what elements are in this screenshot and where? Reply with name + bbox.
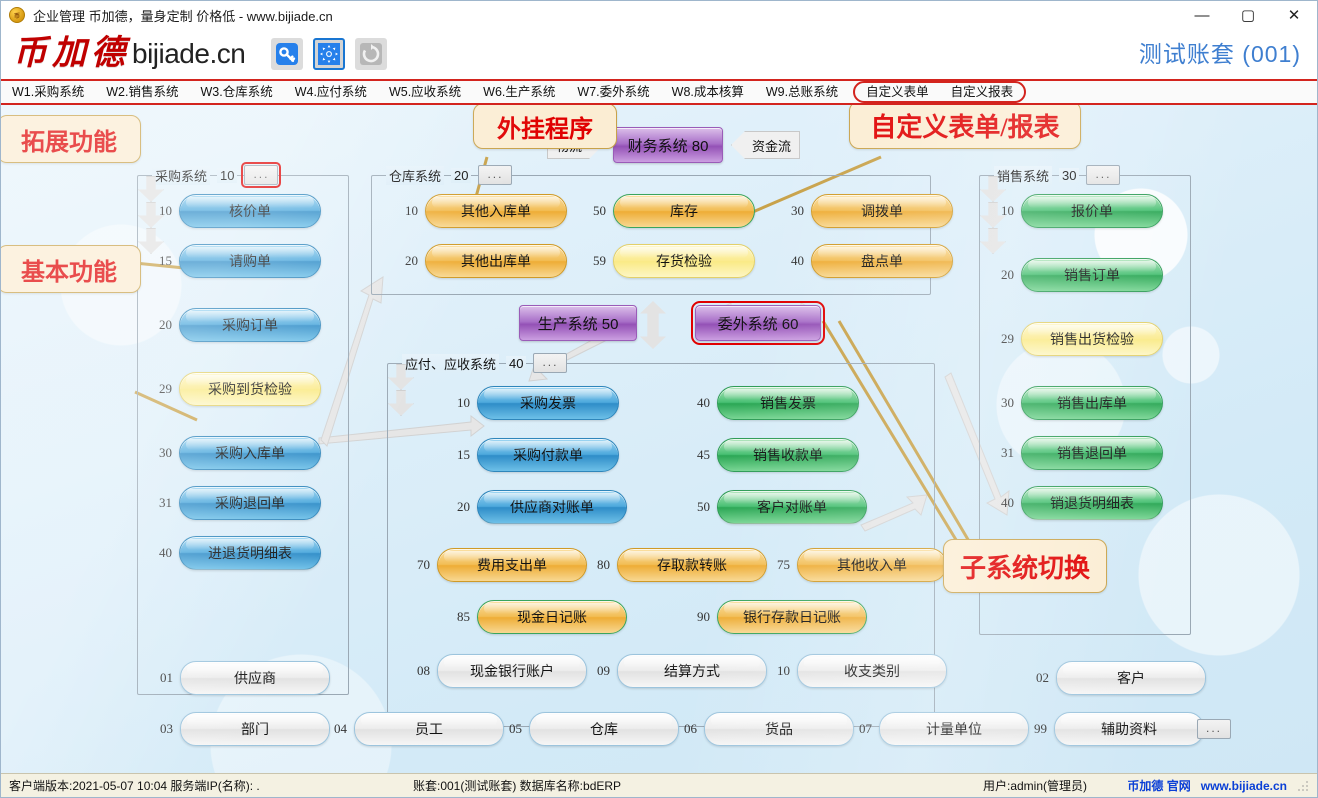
logo-chinese: 币加德 (13, 37, 130, 71)
doc-button-qitachukudan[interactable]: 其他出库单 (425, 244, 567, 278)
production-system-chip[interactable]: 生产系统 50 (519, 305, 637, 341)
menu-bar: W1.采购系统 W2.销售系统 W3.仓库系统 W4.应付系统 W5.应收系统 … (1, 79, 1317, 105)
doc-num: 20 (146, 317, 172, 333)
title-bar: 币 企业管理 币加德，量身定制 价格低 - www.bijiade.cn — ▢… (1, 1, 1317, 29)
payables-more-button[interactable]: ... (533, 353, 567, 373)
doc-row-purchase-15: 15 请购单 (146, 244, 321, 278)
application-window: 币 企业管理 币加德，量身定制 价格低 - www.bijiade.cn — ▢… (0, 0, 1318, 798)
doc-num: 20 (988, 267, 1014, 283)
doc-button-xiaoshoufapiao[interactable]: 销售发票 (717, 386, 859, 420)
doc-button-cunqukuanzhuanzhang[interactable]: 存取款转账 (617, 548, 767, 582)
doc-num: 80 (584, 557, 610, 573)
doc-row-sales-10: 10 报价单 (988, 194, 1163, 228)
doc-row-purchase-10: 10 核价单 (146, 194, 321, 228)
brand-bar: 币加德 bijiade.cn (1, 29, 1317, 79)
doc-button-yinhangcunkuanrijizhang[interactable]: 银行存款日记账 (717, 600, 867, 634)
doc-num: 04 (321, 721, 347, 737)
menu-item-w6[interactable]: W6.生产系统 (472, 80, 566, 104)
doc-num: 29 (988, 331, 1014, 347)
doc-button-xiaoshoudingdan[interactable]: 销售订单 (1021, 258, 1163, 292)
doc-num: 70 (404, 557, 430, 573)
group-purchase-code: 10 (217, 168, 237, 183)
doc-row-ap-20: 20 供应商对账单 (444, 490, 627, 524)
doc-num: 99 (1021, 721, 1047, 737)
doc-button-caigoutuihuidan[interactable]: 采购退回单 (179, 486, 321, 520)
doc-row-purchase-29: 29 采购到货检验 (146, 372, 321, 406)
arrow-down-icon (980, 228, 1006, 254)
doc-row-warehouse-59: 59 存货检验 (580, 244, 755, 278)
doc-num: 30 (778, 203, 804, 219)
doc-num: 50 (684, 499, 710, 515)
minimize-button[interactable]: — (1179, 1, 1225, 29)
doc-row-warehouse-10: 10 其他入库单 (392, 194, 567, 228)
doc-button-feiyongzhichudan[interactable]: 费用支出单 (437, 548, 587, 582)
doc-row-journal-90: 90 银行存款日记账 (684, 600, 867, 634)
doc-num: 15 (444, 447, 470, 463)
doc-num: 20 (444, 499, 470, 515)
doc-num: 30 (988, 395, 1014, 411)
finance-system-chip[interactable]: 财务系统 80 (613, 127, 723, 163)
doc-button-xiaoshouchuhuojianyan[interactable]: 销售出货检验 (1021, 322, 1163, 356)
doc-num: 40 (146, 545, 172, 561)
doc-num: 90 (684, 609, 710, 625)
resize-grip-icon[interactable] (1297, 780, 1309, 792)
doc-row-sales-30: 30 销售出库单 (988, 386, 1163, 420)
doc-num: 09 (584, 663, 610, 679)
master-more-button[interactable]: ... (1197, 719, 1231, 739)
warehouse-more-button[interactable]: ... (478, 165, 512, 185)
menu-item-w3[interactable]: W3.仓库系统 (189, 80, 283, 104)
system-menu-group: W1.采购系统 W2.销售系统 W3.仓库系统 W4.应付系统 W5.应收系统 … (1, 80, 849, 104)
menu-item-w4[interactable]: W4.应付系统 (284, 80, 378, 104)
doc-row-journal-85: 85 现金日记账 (444, 600, 627, 634)
group-sales-code: 30 (1059, 168, 1079, 183)
master-row-06: 06 货品 (671, 712, 854, 746)
group-purchase-label: 采购系统 10 ... (148, 165, 282, 185)
doc-button-baojiadan[interactable]: 报价单 (1021, 194, 1163, 228)
refresh-icon[interactable] (355, 38, 387, 70)
doc-num: 01 (147, 670, 173, 686)
master-row-07: 07 计量单位 (846, 712, 1029, 746)
menu-item-w1[interactable]: W1.采购系统 (1, 80, 95, 104)
doc-row-purchase-40: 40 进退货明细表 (146, 536, 321, 570)
doc-row-purchase-31: 31 采购退回单 (146, 486, 321, 520)
sales-more-button[interactable]: ... (1086, 165, 1120, 185)
doc-button-shouzhileibie[interactable]: 收支类别 (797, 654, 947, 688)
doc-row-master-10: 10 收支类别 (764, 654, 947, 688)
doc-row-ar-50: 50 客户对账单 (684, 490, 867, 524)
group-payables-code: 40 (506, 356, 526, 371)
master-button-huopin[interactable]: 货品 (704, 712, 854, 746)
doc-button-xiaotuihuomingxibiao[interactable]: 销退货明细表 (1021, 486, 1163, 520)
doc-num: 10 (764, 663, 790, 679)
logo-english: bijiade.cn (132, 38, 245, 70)
doc-row-cash-80: 80 存取款转账 (584, 548, 767, 582)
doc-row-warehouse-30: 30 调拨单 (778, 194, 953, 228)
outsourcing-system-chip[interactable]: 委外系统 60 (695, 305, 821, 341)
master-button-bumen[interactable]: 部门 (180, 712, 330, 746)
group-purchase-title: 采购系统 (152, 166, 210, 185)
group-warehouse-label: 仓库系统 20 ... (382, 165, 516, 185)
menu-item-w7[interactable]: W7.委外系统 (566, 80, 660, 104)
doc-button-diaobodan[interactable]: 调拨单 (811, 194, 953, 228)
doc-row-purchase-30: 30 采购入库单 (146, 436, 321, 470)
doc-button-kucun[interactable]: 库存 (613, 194, 755, 228)
close-button[interactable]: ✕ (1271, 1, 1317, 29)
group-warehouse-system: 仓库系统 20 ... 10 其他入库单 20 其他出库单 50 库存 59 存… (371, 175, 931, 295)
doc-button-caigoufukuandan[interactable]: 采购付款单 (477, 438, 619, 472)
group-warehouse-code: 20 (451, 168, 471, 183)
doc-button-caigourukudan[interactable]: 采购入库单 (179, 436, 321, 470)
doc-button-kehuduizhangdan[interactable]: 客户对账单 (717, 490, 867, 524)
status-bar: 客户端版本:2021-05-07 10:04 服务端IP(名称): . 账套:0… (1, 773, 1317, 797)
doc-button-gongyingshangduizhangdan[interactable]: 供应商对账单 (477, 490, 627, 524)
doc-num: 06 (671, 721, 697, 737)
gear-icon[interactable] (313, 38, 345, 70)
doc-num: 08 (404, 663, 430, 679)
doc-num: 10 (392, 203, 418, 219)
menu-item-custom-report[interactable]: 自定义报表 (940, 80, 1025, 104)
doc-button-cunhuojianyan[interactable]: 存货检验 (613, 244, 755, 278)
doc-row-sales-29: 29 销售出货检验 (988, 322, 1163, 356)
master-row-99: 99 辅助资料 (1021, 712, 1204, 746)
doc-row-sales-40: 40 销退货明细表 (988, 486, 1163, 520)
status-client-version: 客户端版本:2021-05-07 10:04 服务端IP(名称): . (9, 777, 260, 794)
doc-num: 50 (580, 203, 606, 219)
custom-menu-group: 自定义表单 自定义报表 (853, 81, 1026, 103)
doc-num: 45 (684, 447, 710, 463)
account-set-label: 测试账套 (001) (1139, 35, 1301, 69)
doc-num: 03 (147, 721, 173, 737)
doc-button-caigoufapiao[interactable]: 采购发票 (477, 386, 619, 420)
doc-row-master-09: 09 结算方式 (584, 654, 767, 688)
doc-num: 10 (444, 395, 470, 411)
status-site-name[interactable]: 币加德 官网 (1127, 777, 1190, 794)
doc-button-caigoudaohuojianyan[interactable]: 采购到货检验 (179, 372, 321, 406)
doc-num: 30 (146, 445, 172, 461)
doc-row-ap-10: 10 采购发票 (444, 386, 619, 420)
master-button-gongyingshang[interactable]: 供应商 (180, 661, 330, 695)
menu-item-w9[interactable]: W9.总账系统 (755, 80, 849, 104)
doc-num: 59 (580, 253, 606, 269)
doc-button-jiesuanfangshi[interactable]: 结算方式 (617, 654, 767, 688)
doc-button-qitarukudan[interactable]: 其他入库单 (425, 194, 567, 228)
master-row-04: 04 员工 (321, 712, 504, 746)
doc-button-xiaoshoutuihuidan[interactable]: 销售退回单 (1021, 436, 1163, 470)
group-payables-title: 应付、应收系统 (402, 354, 499, 373)
doc-button-xiaoshoushoukuandan[interactable]: 销售收款单 (717, 438, 859, 472)
doc-num: 40 (988, 495, 1014, 511)
doc-row-cash-70: 70 费用支出单 (404, 548, 587, 582)
app-icon: 币 (9, 7, 25, 23)
callout-plugin-program: 外挂程序 (473, 105, 617, 149)
menu-item-w8[interactable]: W8.成本核算 (661, 80, 755, 104)
doc-row-warehouse-20: 20 其他出库单 (392, 244, 567, 278)
doc-num: 40 (778, 253, 804, 269)
group-purchase-system: 采购系统 10 ... 10 核价单 15 请购单 20 采购订单 29 采购到… (137, 175, 349, 695)
callout-basic-function: 基本功能 (1, 245, 141, 293)
master-row-03: 03 部门 (147, 712, 330, 746)
capital-flow-label: 资金流 (731, 131, 800, 159)
doc-num: 20 (392, 253, 418, 269)
window-title: 企业管理 币加德，量身定制 价格低 - www.bijiade.cn (33, 6, 333, 25)
doc-row-master-08: 08 现金银行账户 (404, 654, 587, 688)
status-site-url[interactable]: www.bijiade.cn (1201, 779, 1287, 793)
menu-item-custom-form[interactable]: 自定义表单 (855, 80, 940, 104)
group-payables-label: 应付、应收系统 40 ... (398, 353, 571, 373)
callout-custom-form-report: 自定义表单/报表 (849, 105, 1081, 149)
doc-button-xianjinyinhangzhanghu[interactable]: 现金银行账户 (437, 654, 587, 688)
doc-button-xiaoshouchukudan[interactable]: 销售出库单 (1021, 386, 1163, 420)
maximize-button[interactable]: ▢ (1225, 1, 1271, 29)
doc-row-cash-75: 75 其他收入单 (764, 548, 947, 582)
master-button-fuzhuziliao[interactable]: 辅助资料 (1054, 712, 1204, 746)
doc-row-sales-31: 31 销售退回单 (988, 436, 1163, 470)
doc-num: 40 (684, 395, 710, 411)
doc-row-warehouse-50: 50 库存 (580, 194, 755, 228)
doc-num: 07 (846, 721, 872, 737)
doc-num: 29 (146, 381, 172, 397)
doc-button-pandiandan[interactable]: 盘点单 (811, 244, 953, 278)
master-button-jiliangdanwei[interactable]: 计量单位 (879, 712, 1029, 746)
master-button-cangku[interactable]: 仓库 (529, 712, 679, 746)
key-icon[interactable] (271, 38, 303, 70)
doc-num: 31 (988, 445, 1014, 461)
doc-num: 75 (764, 557, 790, 573)
doc-num: 85 (444, 609, 470, 625)
doc-button-qitashourudan[interactable]: 其他收入单 (797, 548, 947, 582)
arrow-down-icon (388, 390, 414, 416)
doc-button-jintuihuomingxibiao[interactable]: 进退货明细表 (179, 536, 321, 570)
doc-button-hejiadan[interactable]: 核价单 (179, 194, 321, 228)
callout-extend-function: 拓展功能 (1, 115, 141, 163)
flow-canvas: 物流 财务系统 80 资金流 采购系统 10 ... 10 核价单 15 请购单… (1, 105, 1317, 773)
group-sales-title: 销售系统 (994, 166, 1052, 185)
menu-item-w2[interactable]: W2.销售系统 (95, 80, 189, 104)
arrow-up-down-icon (640, 301, 666, 349)
doc-row-warehouse-40: 40 盘点单 (778, 244, 953, 278)
doc-button-xianjinrijizhang[interactable]: 现金日记账 (477, 600, 627, 634)
doc-row-ar-45: 45 销售收款单 (684, 438, 859, 472)
group-payables-receivables-system: 应付、应收系统 40 ... 10 采购发票 15 采购付款单 20 供应商对账… (387, 363, 935, 727)
doc-button-qinggoudan[interactable]: 请购单 (179, 244, 321, 278)
master-row-02: 02 客户 (1023, 661, 1206, 695)
doc-num: 15 (146, 253, 172, 269)
window-controls: — ▢ ✕ (1179, 1, 1317, 29)
doc-num: 05 (496, 721, 522, 737)
status-right-group: 币加德 官网 www.bijiade.cn (1127, 777, 1309, 794)
callout-subsystem-switch: 子系统切换 (943, 539, 1107, 593)
status-account-db: 账套:001(测试账套) 数据库名称:bdERP (413, 777, 621, 794)
master-row-01: 01 供应商 (147, 661, 330, 695)
doc-row-sales-20: 20 销售订单 (988, 258, 1163, 292)
group-warehouse-title: 仓库系统 (386, 166, 444, 185)
doc-row-ap-15: 15 采购付款单 (444, 438, 619, 472)
group-sales-label: 销售系统 30 ... (990, 165, 1124, 185)
toolbar-icons (271, 38, 387, 70)
doc-num: 31 (146, 495, 172, 511)
master-button-kehu[interactable]: 客户 (1056, 661, 1206, 695)
doc-row-purchase-20: 20 采购订单 (146, 308, 321, 342)
doc-row-ar-40: 40 销售发票 (684, 386, 859, 420)
menu-item-w5[interactable]: W5.应收系统 (378, 80, 472, 104)
doc-button-caigoudingdan[interactable]: 采购订单 (179, 308, 321, 342)
purchase-more-button[interactable]: ... (244, 165, 278, 185)
doc-num: 02 (1023, 670, 1049, 686)
master-row-05: 05 仓库 (496, 712, 679, 746)
status-user: 用户:admin(管理员) (983, 777, 1087, 794)
master-button-yuangong[interactable]: 员工 (354, 712, 504, 746)
